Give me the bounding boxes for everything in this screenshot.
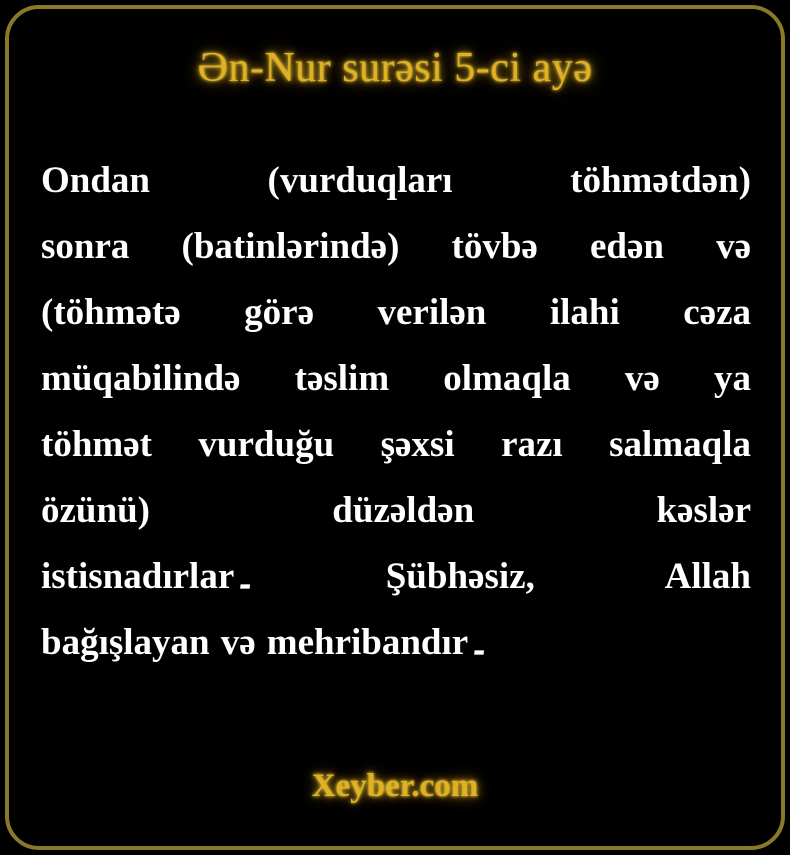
ayah-word: ilahi — [550, 280, 620, 346]
ayah-word: cəza — [683, 280, 751, 346]
card-content: Ən-Nur surəsi 5-ci ayə Ondan(vurduqlarıt… — [0, 0, 790, 855]
ayah-word: mehribandır۔ — [267, 610, 490, 676]
ayah-word: təslim — [295, 346, 390, 412]
ayah-line: özünü)düzəldənkəslər — [41, 478, 751, 544]
ayah-word: şəxsi — [381, 412, 455, 478]
ayah-word: (vurduqları — [268, 148, 453, 214]
ayah-word: özünü) — [41, 478, 150, 544]
ayah-word: olmaqla — [443, 346, 570, 412]
ayah-word: vurduğu — [198, 412, 334, 478]
ayah-word: və — [221, 610, 256, 676]
ayah-word: bağışlayan — [41, 610, 210, 676]
ayah-text-block: Ondan(vurduqlarıtöhmətdən)sonra(batinlər… — [41, 148, 751, 676]
ayah-word: razı — [501, 412, 563, 478]
ayah-line: müqabilindətəslimolmaqlavəya — [41, 346, 751, 412]
ayah-word: Allah — [665, 544, 751, 610]
ayah-word: (töhmətə — [41, 280, 181, 346]
ayah-word: müqabilində — [41, 346, 240, 412]
ayah-word: salmaqla — [609, 412, 751, 478]
ayah-word: edən — [590, 214, 664, 280]
ayah-word: (batinlərində) — [182, 214, 400, 280]
ayah-word: istisnadırlar۔ — [41, 544, 256, 610]
ayah-word: ya — [714, 346, 751, 412]
ayah-word: görə — [244, 280, 314, 346]
ayah-line: istisnadırlar۔Şübhəsiz,Allah — [41, 544, 751, 610]
ayah-word: və — [625, 346, 660, 412]
ayah-word: verilən — [377, 280, 486, 346]
site-watermark: Xeyber.com — [0, 768, 790, 805]
ayah-word: və — [716, 214, 751, 280]
ayah-line: (töhmətəgörəverilənilahicəza — [41, 280, 751, 346]
ayah-line: bağışlayanvəmehribandır۔ — [41, 610, 751, 676]
ayah-word: sonra — [41, 214, 129, 280]
ayah-word: töhmət — [41, 412, 152, 478]
ayah-word: töhmətdən) — [570, 148, 751, 214]
ayah-line: Ondan(vurduqlarıtöhmətdən) — [41, 148, 751, 214]
ayah-word: düzəldən — [332, 478, 474, 544]
page-title: Ən-Nur surəsi 5-ci ayə — [0, 44, 790, 92]
ayah-word: Ondan — [41, 148, 150, 214]
ayah-word: Şübhəsiz, — [386, 544, 535, 610]
ayah-word: tövbə — [452, 214, 538, 280]
ayah-word: kəslər — [656, 478, 751, 544]
ayah-line: sonra(batinlərində)tövbəedənvə — [41, 214, 751, 280]
ayah-line: töhmətvurduğuşəxsirazısalmaqla — [41, 412, 751, 478]
ayah-card: Ən-Nur surəsi 5-ci ayə Ondan(vurduqlarıt… — [0, 0, 790, 855]
